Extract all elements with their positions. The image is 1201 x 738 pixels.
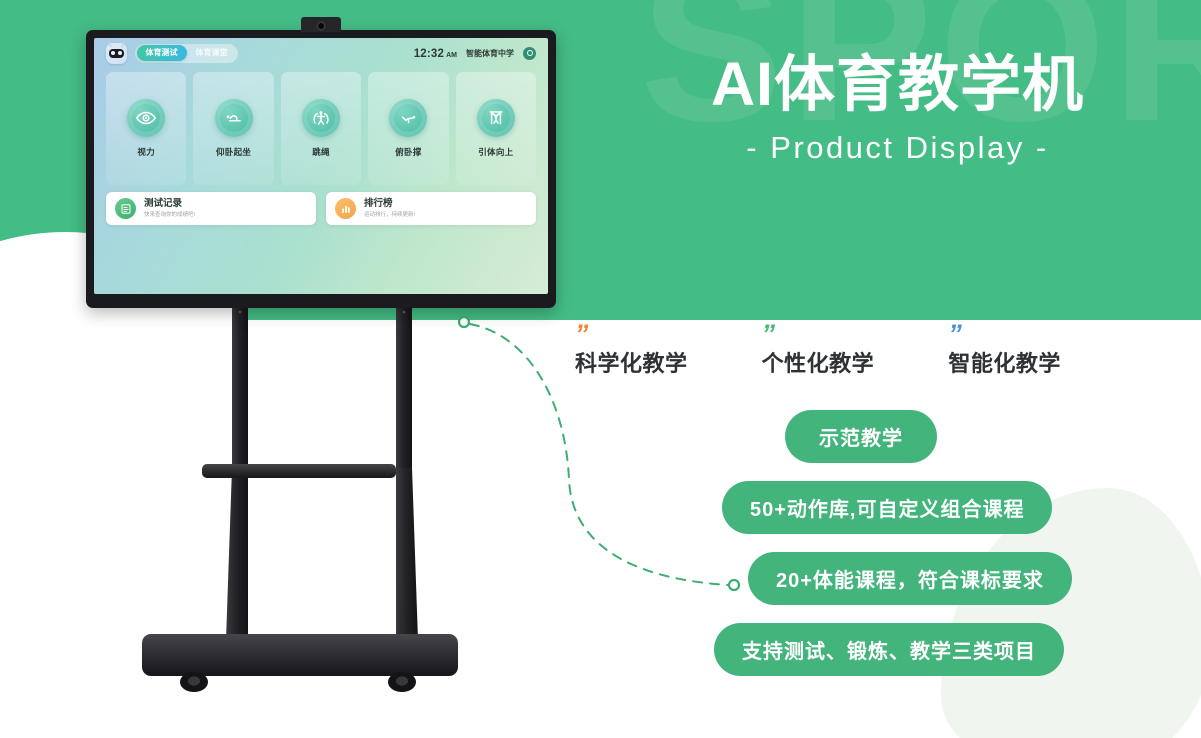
- device-screen: 体育测试 体育课堂 12:32AM 智能体育中学: [94, 38, 548, 294]
- hero-subtitle: - Product Display -: [625, 130, 1170, 166]
- pill-fitness-courses[interactable]: 20+体能课程，符合课标要求: [748, 552, 1072, 605]
- pill-row: 50+动作库,可自定义组合课程: [640, 481, 1140, 534]
- hero-block: AI体育教学机 - Product Display -: [625, 52, 1170, 166]
- school-name-label: 智能体育中学: [466, 48, 514, 59]
- robot-antenna-right: [121, 41, 125, 46]
- test-card-label: 仰卧起坐: [216, 146, 251, 158]
- pushup-icon: [389, 99, 427, 137]
- test-card-label: 跳绳: [312, 146, 330, 158]
- test-card-pushup[interactable]: 俯卧撑: [368, 72, 448, 185]
- shortcut-leaderboard[interactable]: 排行榜 运动排行，持续更新!: [326, 192, 536, 225]
- screen-clock: 12:32AM: [414, 44, 457, 62]
- stand-base: [142, 634, 458, 676]
- feature-title: 科学化教学: [575, 346, 762, 378]
- jumprope-icon: [302, 99, 340, 137]
- feature-intelligent: ” 智能化教学: [948, 326, 1135, 378]
- poster-canvas: SPORTS AI体育教学机 - Product Display - 体育测试: [0, 0, 1201, 738]
- pill-action-library[interactable]: 50+动作库,可自定义组合课程: [722, 481, 1052, 534]
- feature-title: 智能化教学: [948, 346, 1135, 378]
- pullup-icon: [477, 99, 515, 137]
- test-card-pullup[interactable]: 引体向上: [456, 72, 536, 185]
- clock-time: 12:32: [414, 48, 444, 60]
- robot-icon: [106, 43, 127, 64]
- test-card-jumprope[interactable]: 跳绳: [281, 72, 361, 185]
- shortcut-subtitle: 快来查询你的成绩吧!: [144, 212, 195, 219]
- feature-personalized: ” 个性化教学: [762, 326, 949, 378]
- shortcut-subtitle: 运动排行，持续更新!: [364, 212, 415, 219]
- screen-topbar: 体育测试 体育课堂 12:32AM 智能体育中学: [94, 38, 548, 68]
- eye-icon: [127, 99, 165, 137]
- shortcut-title: 测试记录: [144, 198, 195, 210]
- screen-topbar-right: 12:32AM 智能体育中学: [414, 44, 536, 62]
- hero-title: AI体育教学机: [625, 52, 1170, 116]
- gear-icon[interactable]: [523, 47, 536, 60]
- screen-test-card-row: 视力 仰卧起坐: [94, 68, 548, 185]
- test-card-label: 视力: [137, 146, 155, 158]
- feature-heading-row: ” 科学化教学 ” 个性化教学 ” 智能化教学: [575, 326, 1135, 378]
- stand-middle-shelf: [202, 464, 396, 478]
- interactive-display-device: 体育测试 体育课堂 12:32AM 智能体育中学: [86, 30, 556, 308]
- tab-sports-test[interactable]: 体育测试: [137, 45, 187, 61]
- robot-antenna-left: [108, 41, 112, 46]
- record-icon: [115, 198, 136, 219]
- feature-pill-list: 示范教学 50+动作库,可自定义组合课程 20+体能课程，符合课标要求 支持测试…: [640, 410, 1140, 694]
- clock-ampm: AM: [446, 52, 457, 59]
- shortcut-text: 排行榜 运动排行，持续更新!: [364, 198, 415, 219]
- pill-row: 20+体能课程，符合课标要求: [640, 552, 1140, 605]
- feature-title: 个性化教学: [762, 346, 949, 378]
- test-card-vision[interactable]: 视力: [106, 72, 186, 185]
- screen-shortcut-row: 测试记录 快来查询你的成绩吧!: [94, 185, 548, 225]
- tab-sports-class[interactable]: 体育课堂: [187, 45, 237, 61]
- pill-row: 示范教学: [640, 410, 1140, 463]
- device-camera-icon: [301, 17, 341, 32]
- device-bezel: 体育测试 体育课堂 12:32AM 智能体育中学: [86, 30, 556, 308]
- robot-face: [109, 49, 124, 58]
- pill-row: 支持测试、锻炼、教学三类项目: [640, 623, 1140, 676]
- shortcut-text: 测试记录 快来查询你的成绩吧!: [144, 198, 195, 219]
- quote-mark-icon: ”: [948, 326, 1135, 346]
- pill-three-categories[interactable]: 支持测试、锻炼、教学三类项目: [714, 623, 1064, 676]
- quote-mark-icon: ”: [575, 326, 762, 346]
- shortcut-test-records[interactable]: 测试记录 快来查询你的成绩吧!: [106, 192, 316, 225]
- test-card-label: 引体向上: [478, 146, 513, 158]
- device-stand: [86, 300, 556, 700]
- chart-bars-icon: [335, 198, 356, 219]
- situp-icon: [215, 99, 253, 137]
- test-card-label: 俯卧撑: [395, 146, 421, 158]
- pill-demo-teaching[interactable]: 示范教学: [785, 410, 937, 463]
- feature-scientific: ” 科学化教学: [575, 326, 762, 378]
- quote-mark-icon: ”: [762, 326, 949, 346]
- test-card-situp[interactable]: 仰卧起坐: [193, 72, 273, 185]
- screen-tab-group[interactable]: 体育测试 体育课堂: [135, 44, 238, 63]
- shortcut-title: 排行榜: [364, 198, 415, 210]
